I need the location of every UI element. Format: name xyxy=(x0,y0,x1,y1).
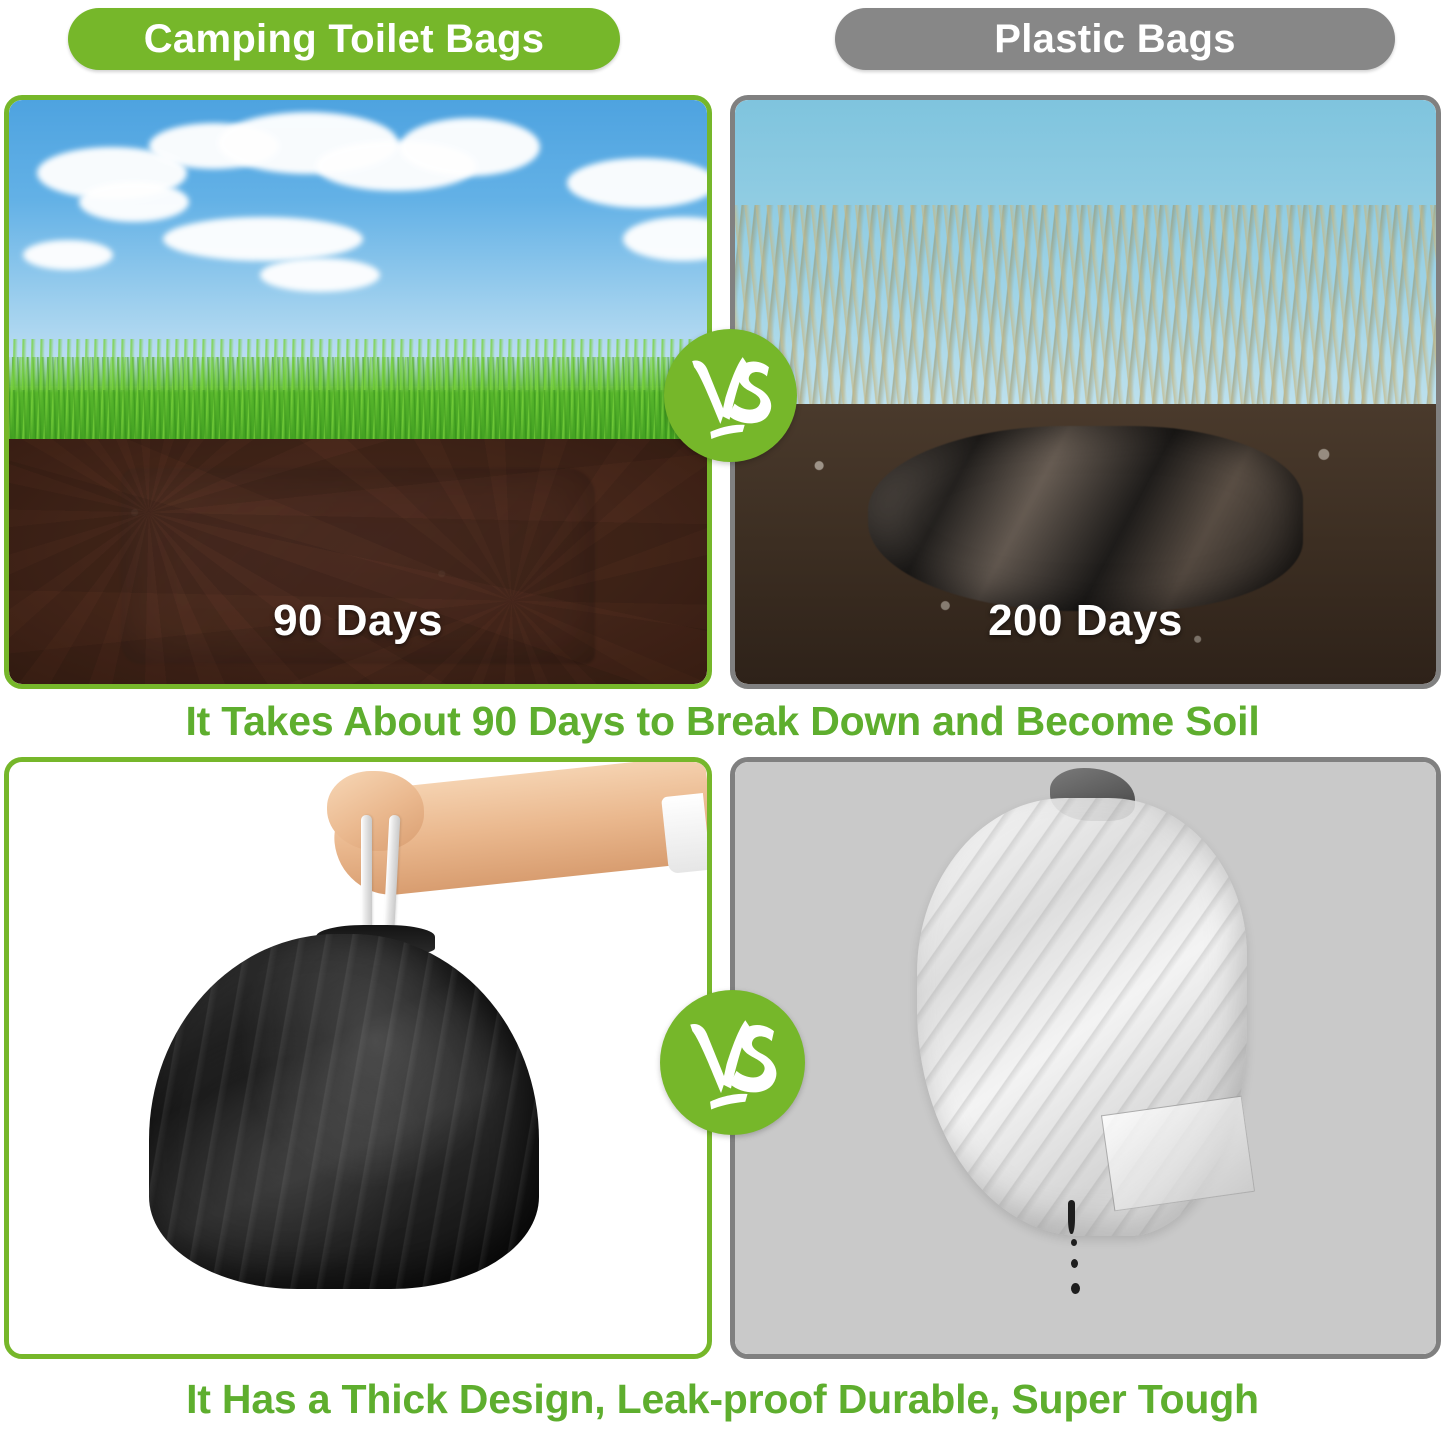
panel-image-clear-bag xyxy=(735,762,1436,1354)
soil-texture xyxy=(9,439,707,684)
panel-camping-bag-decomposition: 90 Days xyxy=(4,95,712,689)
header-pill-camping-toilet-bags: Camping Toilet Bags xyxy=(68,8,620,70)
human-fist xyxy=(327,771,425,851)
panel-image-black-bag xyxy=(9,762,707,1354)
leak-stream xyxy=(1068,1200,1075,1234)
buried-plastic-bag xyxy=(868,426,1303,611)
soil-layer xyxy=(9,439,707,684)
caption-decomposition: It Takes About 90 Days to Break Down and… xyxy=(0,698,1445,745)
days-overlay-label-right: 200 Days xyxy=(735,596,1436,646)
header-row: Camping Toilet Bags Plastic Bags xyxy=(0,0,1445,88)
panel-camping-bag-product xyxy=(4,757,712,1359)
product-comparison-infographic: Camping Toilet Bags Plastic Bags 90 Days xyxy=(0,0,1445,1429)
panel-image-healthy-soil: 90 Days xyxy=(9,100,707,684)
vs-badge-icon-top xyxy=(664,329,797,462)
bag-contents xyxy=(1100,1096,1254,1212)
cloud-shape xyxy=(260,258,380,292)
cloud-shape xyxy=(400,118,540,176)
days-overlay-label-left: 90 Days xyxy=(9,596,707,646)
cloud-shape xyxy=(163,217,363,261)
panel-plastic-bag-product xyxy=(730,757,1441,1359)
caption-durability: It Has a Thick Design, Leak-proof Durabl… xyxy=(0,1376,1445,1423)
panel-plastic-bag-persistence: 200 Days xyxy=(730,95,1441,689)
sleeve-cuff xyxy=(661,793,707,874)
cloud-shape xyxy=(79,182,189,222)
vs-badge-icon-bottom xyxy=(660,990,805,1135)
header-pill-plastic-bags: Plastic Bags xyxy=(835,8,1395,70)
panel-image-dry-soil: 200 Days xyxy=(735,100,1436,684)
cloud-shape xyxy=(23,240,113,270)
